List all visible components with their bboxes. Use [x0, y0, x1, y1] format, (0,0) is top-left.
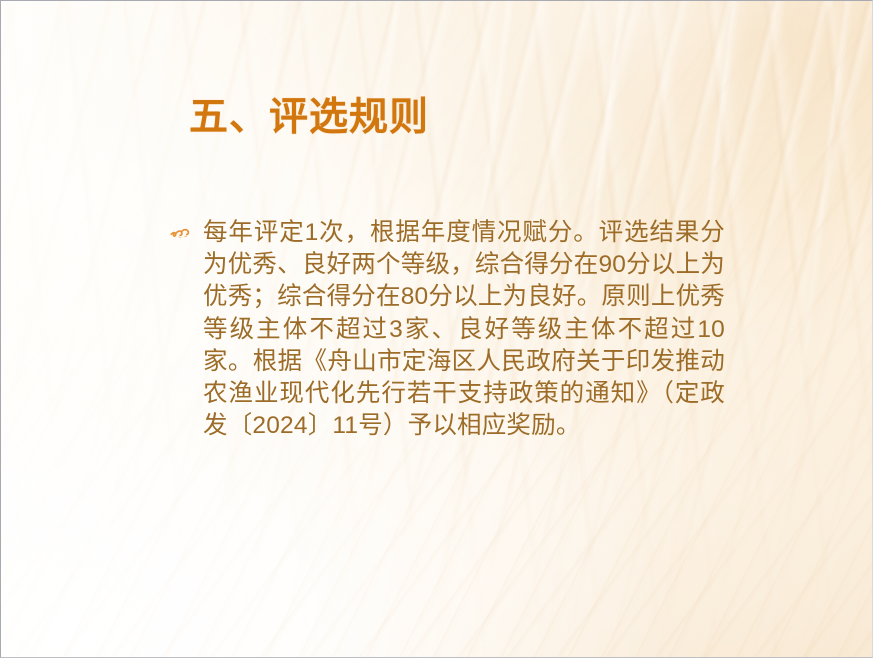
rules-paragraph: 每年评定1次，根据年度情况赋分。评选结果分为优秀、良好两个等级，综合得分在90分…: [203, 217, 725, 442]
slide-title: 五、评选规则: [189, 96, 429, 141]
wheat-swirl-bullet-icon: [169, 223, 191, 255]
presentation-slide: 五、评选规则 每年评定1次，根据年度情况赋分。评选结果分为优秀、良好两个等级，综…: [0, 0, 873, 658]
bullet-paragraph-block: 每年评定1次，根据年度情况赋分。评选结果分为优秀、良好两个等级，综合得分在90分…: [169, 217, 725, 442]
